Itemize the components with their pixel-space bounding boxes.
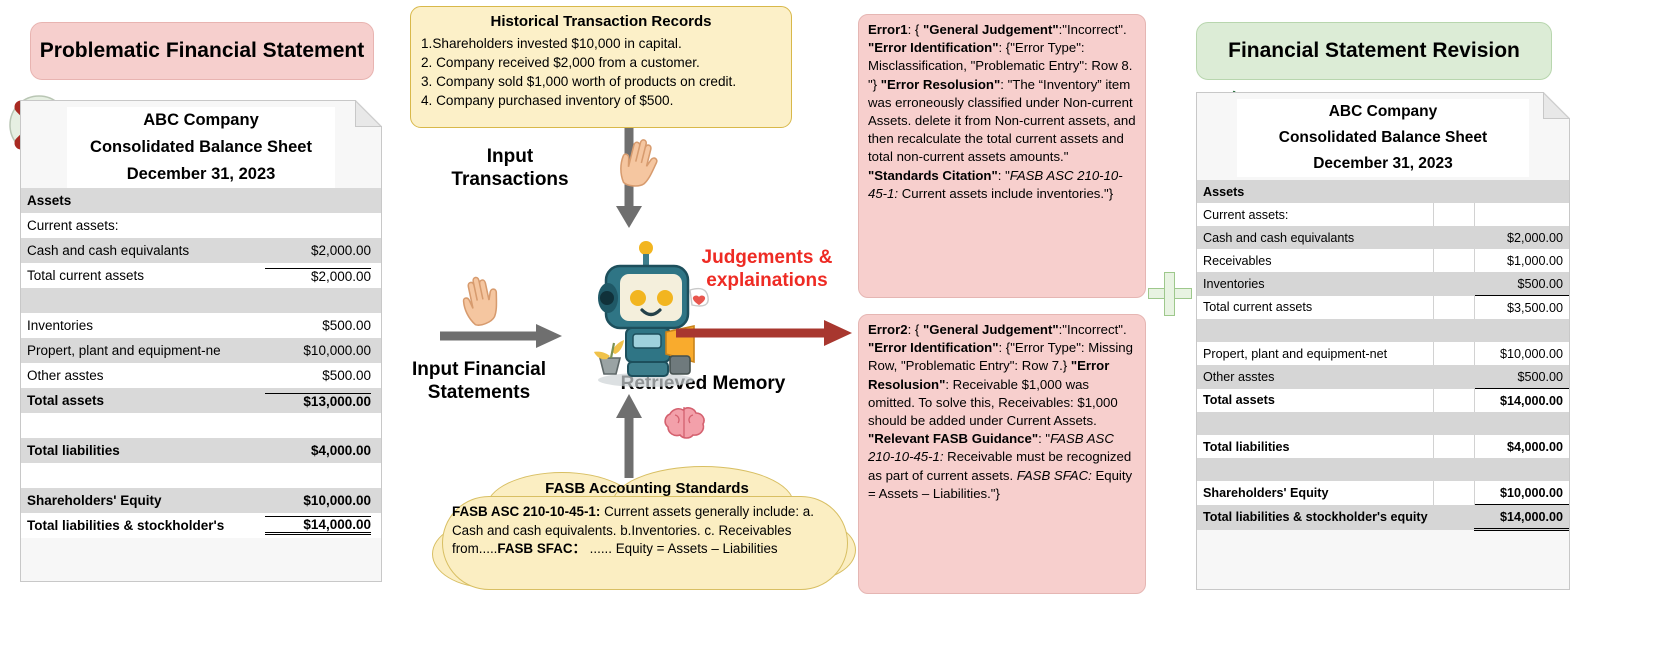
row-spacer bbox=[1434, 180, 1475, 203]
row-spacer bbox=[1434, 319, 1475, 342]
left-statement-title: Consolidated Balance Sheet bbox=[67, 134, 335, 161]
plus-bar-vertical bbox=[1164, 272, 1175, 316]
row-value bbox=[1474, 180, 1569, 203]
row-label: Total assets bbox=[27, 393, 265, 408]
row-label: Total current assets bbox=[27, 268, 265, 283]
row-value: $13,000.00 bbox=[265, 393, 371, 409]
row-label: Receivables bbox=[1197, 249, 1434, 272]
table-row bbox=[1197, 412, 1569, 435]
table-row: Total current assets$3,500.00 bbox=[1197, 296, 1569, 320]
row-label: Total assets bbox=[1197, 389, 1434, 413]
table-row: Total liabilities & stockholder's$14,000… bbox=[21, 513, 381, 538]
row-label: Propert, plant and equipment-ne bbox=[27, 343, 265, 358]
row-value: $3,500.00 bbox=[1474, 296, 1569, 320]
fasb-text-2: ...... Equity = Assets – Liabilities bbox=[586, 541, 778, 556]
table-row: Total assets$14,000.00 bbox=[1197, 389, 1569, 413]
error2-id: Error2 bbox=[868, 322, 908, 337]
row-spacer bbox=[1434, 296, 1475, 320]
row-spacer bbox=[1434, 203, 1475, 226]
row-spacer bbox=[1434, 389, 1475, 413]
row-label: Current assets: bbox=[1197, 203, 1434, 226]
error2-key-cite: "Relevant FASB Guidance" bbox=[868, 431, 1038, 446]
row-value: $14,000.00 bbox=[1474, 505, 1569, 530]
error2-key-ident: "Error Identification" bbox=[868, 340, 998, 355]
table-row: Propert, plant and equipment-ne$10,000.0… bbox=[21, 338, 381, 363]
row-label: Shareholders' Equity bbox=[27, 493, 265, 508]
table-row bbox=[21, 413, 381, 438]
error1-key-res: "Error Resolusion" bbox=[881, 77, 1001, 92]
table-row: Inventories$500.00 bbox=[21, 313, 381, 338]
fasb-ref-1: FASB ASC 210-10-45-1: bbox=[452, 504, 600, 519]
row-spacer bbox=[1434, 481, 1475, 505]
right-statement-date: December 31, 2023 bbox=[1237, 151, 1529, 177]
table-row bbox=[21, 463, 381, 488]
fasb-cloud-body: FASB ASC 210-10-45-1: Current assets gen… bbox=[452, 503, 842, 559]
table-row: Total assets$13,000.00 bbox=[21, 388, 381, 413]
error2-val-general: :"Incorrect". bbox=[1059, 322, 1127, 337]
brain-icon bbox=[660, 398, 708, 442]
row-label: Shareholders' Equity bbox=[1197, 481, 1434, 505]
row-value: $10,000.00 bbox=[265, 493, 371, 508]
error2-panel: Error2: { "General Judgement":"Incorrect… bbox=[858, 314, 1146, 594]
row-label: Other asstes bbox=[27, 368, 265, 383]
row-label: Total liabilities bbox=[1197, 435, 1434, 458]
error1-val-general: :"Incorrect". bbox=[1059, 22, 1127, 37]
row-value: $500.00 bbox=[1474, 272, 1569, 296]
arrow-agent-to-errors bbox=[676, 318, 856, 348]
row-spacer bbox=[1434, 435, 1475, 458]
table-row: Other asstes$500.00 bbox=[1197, 365, 1569, 389]
row-value: $2,000.00 bbox=[1474, 226, 1569, 249]
error1-open: : { bbox=[908, 22, 923, 37]
table-row: Current assets: bbox=[21, 213, 381, 238]
row-label: Cash and cash equivalants bbox=[1197, 226, 1434, 249]
table-row: Assets bbox=[21, 188, 381, 213]
table-row: Shareholders' Equity$10,000.00 bbox=[1197, 481, 1569, 505]
row-label: Total liabilities bbox=[27, 443, 265, 458]
table-row: Total current assets$2,000.00 bbox=[21, 263, 381, 288]
right-company-name: ABC Company bbox=[1237, 99, 1529, 125]
row-label bbox=[1197, 458, 1434, 481]
row-spacer bbox=[1434, 342, 1475, 365]
row-label: Propert, plant and equipment-net bbox=[1197, 342, 1434, 365]
error1-id: Error1 bbox=[868, 22, 908, 37]
table-row: Total liabilities$4,000.00 bbox=[21, 438, 381, 463]
row-value: $4,000.00 bbox=[265, 443, 371, 458]
row-spacer bbox=[1434, 249, 1475, 272]
row-value: $1,000.00 bbox=[1474, 249, 1569, 272]
revision-statement-header: Financial Statement Revision bbox=[1196, 22, 1552, 80]
error1-cite-open: : " bbox=[998, 168, 1010, 183]
row-label: Assets bbox=[27, 193, 265, 208]
table-row bbox=[1197, 319, 1569, 342]
label-judgements-explanations: Judgements &explainations bbox=[672, 246, 862, 292]
row-value bbox=[1474, 203, 1569, 226]
row-spacer bbox=[1434, 412, 1475, 435]
error1-key-cite: "Standards Citation" bbox=[868, 168, 998, 183]
row-label: Total liabilities & stockholder's bbox=[27, 518, 265, 533]
row-label: Other asstes bbox=[1197, 365, 1434, 389]
table-row: Propert, plant and equipment-net$10,000.… bbox=[1197, 342, 1569, 365]
revised-balance-sheet: ABC Company Consolidated Balance Sheet D… bbox=[1196, 92, 1570, 590]
error2-cite-open: : " bbox=[1038, 431, 1050, 446]
row-value: $10,000.00 bbox=[1474, 342, 1569, 365]
error1-key-general: "General Judgement" bbox=[923, 22, 1059, 37]
row-spacer bbox=[1434, 226, 1475, 249]
table-row bbox=[1197, 458, 1569, 481]
left-statement-rows: AssetsCurrent assets:Cash and cash equiv… bbox=[21, 188, 381, 538]
right-statement-table: AssetsCurrent assets:Cash and cash equiv… bbox=[1197, 180, 1569, 531]
history-note-item: 2. Company received $2,000 from a custom… bbox=[421, 53, 781, 72]
history-note-title: Historical Transaction Records bbox=[421, 13, 781, 30]
problematic-balance-sheet: ABC Company Consolidated Balance Sheet D… bbox=[20, 100, 382, 582]
raised-hand-icon bbox=[450, 267, 520, 343]
row-value bbox=[1474, 319, 1569, 342]
table-row: Total liabilities & stockholder's equity… bbox=[1197, 505, 1569, 530]
row-value: $500.00 bbox=[1474, 365, 1569, 389]
table-row: Current assets: bbox=[1197, 203, 1569, 226]
history-note-item: 1.Shareholders invested $10,000 in capit… bbox=[421, 34, 781, 53]
error1-key-ident: "Error Identification" bbox=[868, 40, 998, 55]
table-row: Shareholders' Equity$10,000.00 bbox=[21, 488, 381, 513]
row-label: Total liabilities & stockholder's equity bbox=[1197, 505, 1434, 530]
history-note-list: 1.Shareholders invested $10,000 in capit… bbox=[421, 34, 781, 110]
table-row: Inventories$500.00 bbox=[1197, 272, 1569, 296]
error1-cite-rest: Current assets include inventories."} bbox=[898, 186, 1113, 201]
row-label bbox=[1197, 412, 1434, 435]
table-row: Total liabilities$4,000.00 bbox=[1197, 435, 1569, 458]
fasb-accounting-standards-cloud: FASB Accounting Standards FASB ASC 210-1… bbox=[432, 466, 856, 594]
row-spacer bbox=[1434, 272, 1475, 296]
page-fold-corner bbox=[1543, 92, 1570, 119]
problematic-statement-header: Problematic Financial Statement bbox=[30, 22, 374, 80]
left-statement-date: December 31, 2023 bbox=[67, 161, 335, 188]
row-value: $2,000.00 bbox=[265, 243, 371, 258]
table-row: Assets bbox=[1197, 180, 1569, 203]
right-statement-title: Consolidated Balance Sheet bbox=[1237, 125, 1529, 151]
page-fold-corner bbox=[355, 100, 382, 127]
historical-transaction-records-note: Historical Transaction Records 1.Shareho… bbox=[410, 6, 792, 128]
row-label: Assets bbox=[1197, 180, 1434, 203]
row-spacer bbox=[1434, 458, 1475, 481]
table-row: Other asstes$500.00 bbox=[21, 363, 381, 388]
table-row: Receivables$1,000.00 bbox=[1197, 249, 1569, 272]
row-value: $14,000.00 bbox=[1474, 389, 1569, 413]
row-value: $2,000.00 bbox=[265, 268, 371, 284]
row-value bbox=[1474, 412, 1569, 435]
error2-cite-ref2: FASB SFAC: bbox=[1017, 468, 1092, 483]
table-row bbox=[21, 288, 381, 313]
row-label: Current assets: bbox=[27, 218, 265, 233]
label-input-transactions: InputTransactions bbox=[430, 145, 590, 191]
error1-panel: Error1: { "General Judgement":"Incorrect… bbox=[858, 14, 1146, 298]
row-value bbox=[1474, 458, 1569, 481]
row-value: $10,000.00 bbox=[265, 343, 371, 358]
row-value: $10,000.00 bbox=[1474, 481, 1569, 505]
row-label bbox=[1197, 319, 1434, 342]
row-label: Inventories bbox=[1197, 272, 1434, 296]
fasb-cloud-title: FASB Accounting Standards bbox=[452, 480, 842, 497]
history-note-item: 4. Company purchased inventory of $500. bbox=[421, 91, 781, 110]
row-label: Inventories bbox=[27, 318, 265, 333]
label-input-financial-statements: Input FinancialStatements bbox=[386, 358, 572, 404]
row-value: $500.00 bbox=[265, 368, 371, 383]
table-row: Cash and cash equivalants$2,000.00 bbox=[21, 238, 381, 263]
row-spacer bbox=[1434, 505, 1475, 530]
row-label: Total current assets bbox=[1197, 296, 1434, 320]
history-note-item: 3. Company sold $1,000 worth of products… bbox=[421, 72, 781, 91]
error2-open: : { bbox=[908, 322, 923, 337]
table-row: Cash and cash equivalants$2,000.00 bbox=[1197, 226, 1569, 249]
error2-key-general: "General Judgement" bbox=[923, 322, 1059, 337]
fasb-ref-2: FASB SFAC： bbox=[497, 541, 586, 556]
row-value: $500.00 bbox=[265, 318, 371, 333]
row-value: $14,000.00 bbox=[265, 516, 371, 535]
plus-icon bbox=[1148, 272, 1192, 316]
row-value: $4,000.00 bbox=[1474, 435, 1569, 458]
row-spacer bbox=[1434, 365, 1475, 389]
row-label: Cash and cash equivalants bbox=[27, 243, 265, 258]
left-company-name: ABC Company bbox=[67, 107, 335, 134]
